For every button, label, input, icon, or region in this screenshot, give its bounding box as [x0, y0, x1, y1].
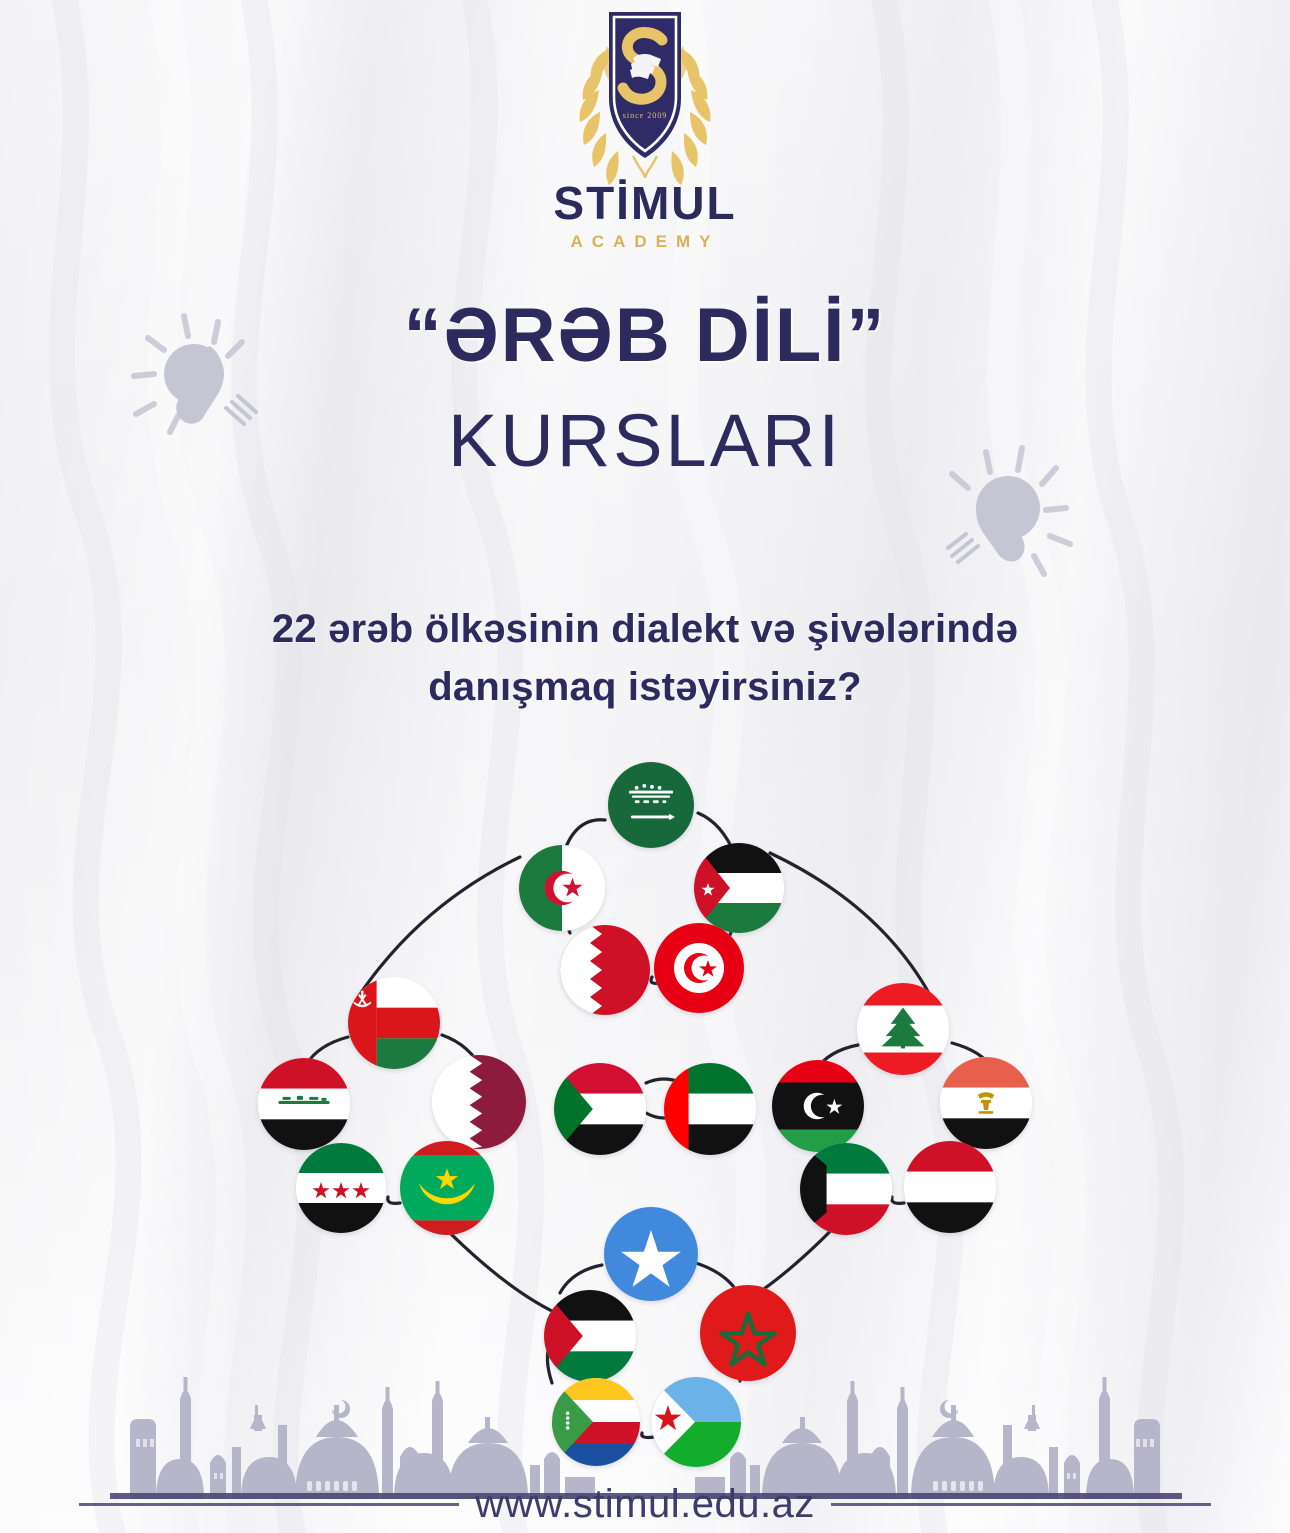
flag-comoros[interactable] — [552, 1378, 640, 1466]
flag-oman[interactable] — [348, 977, 440, 1069]
title-line-2: KURSLARI — [0, 398, 1290, 483]
brand-subtitle: ACADEMY — [571, 232, 720, 252]
flag-saudi-arabia[interactable] — [608, 762, 694, 848]
flag-qatar[interactable] — [432, 1055, 526, 1149]
footer-rule-left — [79, 1503, 459, 1506]
flag-sudan[interactable] — [554, 1063, 646, 1155]
flag-network — [0, 745, 1290, 1445]
title-block: “ƏRƏB DİLİ” KURSLARI — [0, 296, 1290, 483]
flag-united-arab-emirates[interactable] — [664, 1063, 756, 1155]
website-url[interactable]: www.stimul.edu.az — [475, 1482, 815, 1527]
poster-canvas: since 2009 STİMUL ACADEMY — [0, 0, 1290, 1533]
flag-somalia[interactable] — [604, 1207, 698, 1301]
flag-morocco[interactable] — [700, 1285, 796, 1381]
network-connector-lines — [0, 745, 1290, 1445]
flag-bahrain[interactable] — [560, 925, 650, 1015]
flag-libya[interactable] — [772, 1060, 864, 1152]
flag-jordan[interactable] — [694, 843, 784, 933]
subtitle-line-2: danışmaq istəyirsiniz? — [0, 658, 1290, 716]
flag-djibouti[interactable] — [651, 1377, 741, 1467]
brand-name: STİMUL — [553, 180, 736, 226]
flag-mauritania[interactable] — [400, 1141, 494, 1235]
flag-palestine[interactable] — [544, 1290, 636, 1382]
subtitle-line-1: 22 ərəb ölkəsinin dialekt və şivələrində — [0, 600, 1290, 658]
flag-lebanon[interactable] — [857, 983, 949, 1075]
flag-tunisia[interactable] — [654, 923, 744, 1013]
subtitle-block: 22 ərəb ölkəsinin dialekt və şivələrində… — [0, 600, 1290, 716]
flag-iraq[interactable] — [258, 1058, 350, 1150]
flag-kuwait[interactable] — [800, 1143, 892, 1235]
flag-egypt[interactable] — [940, 1057, 1032, 1149]
flag-algeria[interactable] — [519, 845, 605, 931]
since-label: since 2009 — [623, 111, 667, 120]
flag-syria[interactable] — [296, 1143, 386, 1233]
brand-logo: since 2009 STİMUL ACADEMY — [0, 6, 1290, 252]
footer-rule-right — [831, 1503, 1211, 1506]
flag-yemen[interactable] — [904, 1141, 996, 1233]
website-footer: www.stimul.edu.az — [0, 1482, 1290, 1527]
title-line-1: “ƏRƏB DİLİ” — [0, 296, 1290, 376]
crest-icon: since 2009 — [545, 6, 745, 186]
